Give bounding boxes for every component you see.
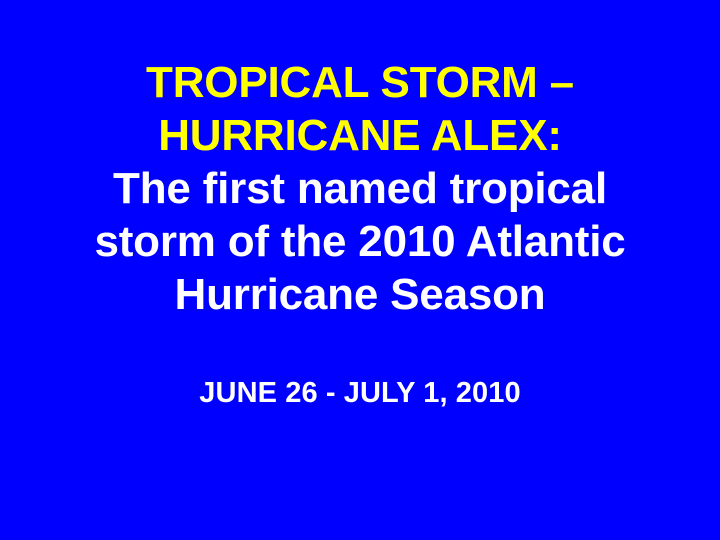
title-line-2: HURRICANE ALEX: [0, 109, 720, 162]
subtitle-line-2: storm of the 2010 Atlantic [0, 215, 720, 268]
subtitle-line-3: Hurricane Season [0, 268, 720, 321]
subtitle-line-1: The first named tropical [0, 162, 720, 215]
title-line-1: TROPICAL STORM – [0, 56, 720, 109]
presentation-slide: TROPICAL STORM – HURRICANE ALEX: The fir… [0, 0, 720, 540]
date-range-text: JUNE 26 - JULY 1, 2010 [0, 377, 720, 409]
slide-title-block: TROPICAL STORM – HURRICANE ALEX: The fir… [0, 56, 720, 321]
